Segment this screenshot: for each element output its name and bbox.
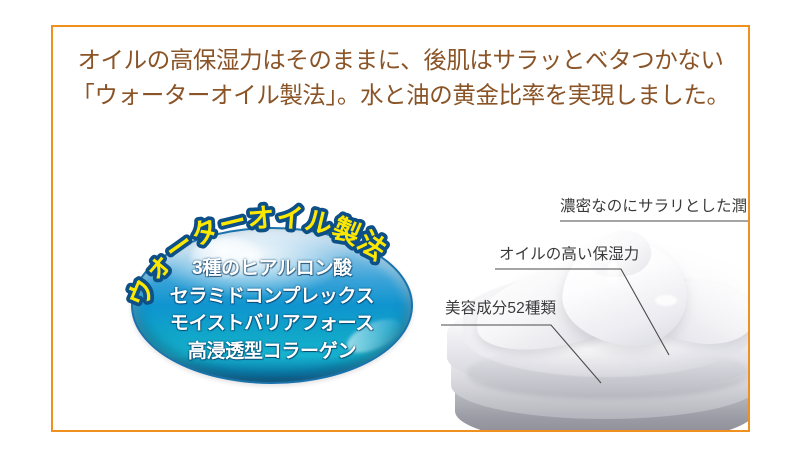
ingredient-item-2: セラミドコンプレックス [131,283,413,311]
headline-line-2: 「ウォーターオイル製法」。水と油の黄金比率を実現しました。 [53,78,748,113]
callout-ingredient-count: 美容成分52種類 [393,299,643,399]
ingredient-item-4: 高浸透型コラーゲン [131,338,413,366]
ingredient-item-1: 3種のヒアルロン酸 [131,255,413,283]
badge-ingredient-list: 3種のヒアルロン酸 セラミドコンプレックス モイストバリアフォース 高浸透型コラ… [131,255,413,365]
ingredient-item-3: モイストバリアフォース [131,310,413,338]
headline-line-1: オイルの高保湿力はそのままに、後肌はサラッとベタつかない [53,43,748,78]
callout-ingredient-count-leader [441,325,601,383]
water-oil-badge: ウォーターオイル製法 ウォーターオイル製法 3種のヒアルロン酸 セラミドコンプレ… [73,195,403,395]
headline: オイルの高保湿力はそのままに、後肌はサラッとベタつかない 「ウォーターオイル製法… [53,43,748,113]
orange-bordered-panel: オイルの高保湿力はそのままに、後肌はサラッとベタつかない 「ウォーターオイル製法… [51,25,750,432]
